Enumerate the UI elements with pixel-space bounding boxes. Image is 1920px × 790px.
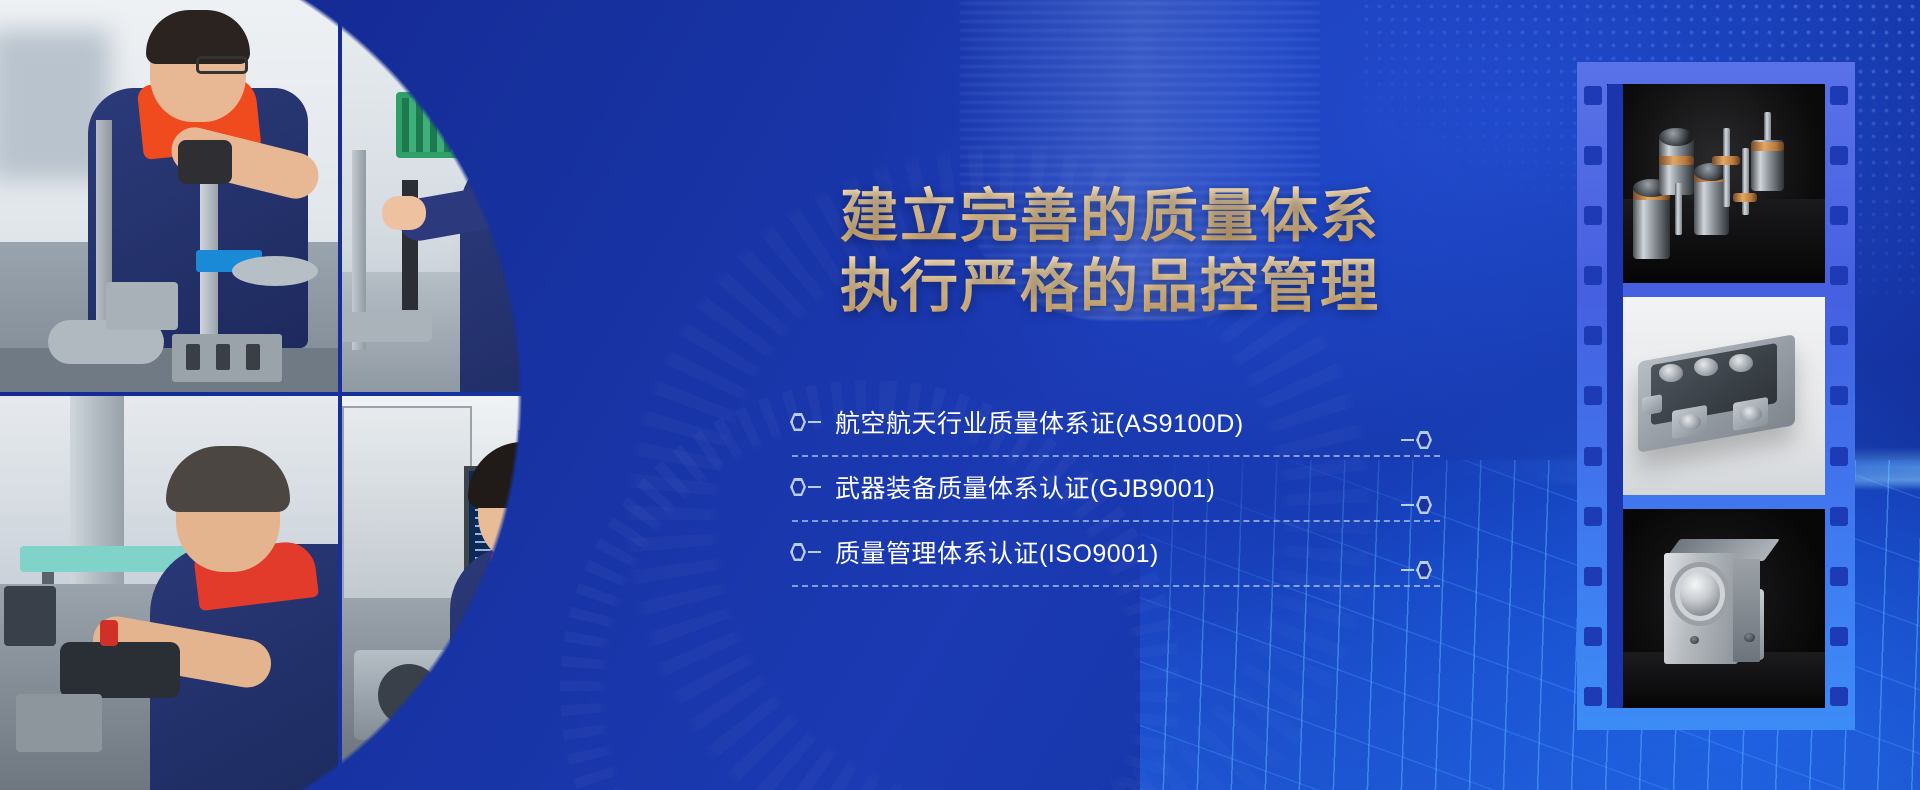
certification-label: 航空航天行业质量体系证(AS9100D) — [835, 404, 1244, 440]
bullet-dash-icon — [808, 486, 821, 488]
list-item: 航空航天行业质量体系证(AS9100D) — [790, 400, 1440, 465]
photo-cnc-machine-operator — [342, 396, 704, 790]
hexagon-bullet-icon — [790, 543, 806, 561]
hexagon-endcap-icon — [1416, 431, 1432, 449]
photo-precision-turned-shaft-components — [1607, 84, 1825, 283]
dashed-divider — [792, 455, 1440, 457]
page-title: 建立完善的质量体系 执行严格的品控管理 — [780, 182, 1440, 321]
list-item: 质量管理体系认证(ISO9001) — [790, 530, 1440, 595]
bullet-dash-icon — [808, 551, 821, 553]
photo-operator-bench-measurement — [342, 0, 704, 392]
quality-system-banner: 建立完善的质量体系 执行严格的品控管理 航空航天行业质量体系证(AS9100D)… — [0, 0, 1920, 790]
photo-cnc-bearing-block — [1607, 509, 1825, 708]
endcap-marker — [1401, 431, 1432, 449]
hexagon-bullet-icon — [790, 413, 806, 431]
film-perforations-right — [1830, 86, 1848, 706]
hexagon-endcap-icon — [1416, 561, 1432, 579]
dashed-divider — [792, 585, 1440, 587]
certification-list: 航空航天行业质量体系证(AS9100D) 武器装备质量体系认证(GJB9001) — [790, 400, 1440, 595]
left-photo-collage — [0, 0, 700, 790]
endcap-marker — [1401, 561, 1432, 579]
list-item: 武器装备质量体系认证(GJB9001) — [790, 465, 1440, 530]
photo-quality-inspector-height-gauge — [0, 0, 338, 392]
hexagon-bullet-icon — [790, 478, 806, 496]
bullet-dash-icon — [808, 421, 821, 423]
headline-line-2: 执行严格的品控管理 — [780, 252, 1440, 322]
dashed-divider — [792, 520, 1440, 522]
certification-label: 质量管理体系认证(ISO9001) — [835, 534, 1159, 570]
endcap-marker — [1401, 496, 1432, 514]
film-perforations-left — [1584, 86, 1602, 706]
endcap-dash-icon — [1401, 439, 1414, 441]
endcap-dash-icon — [1401, 504, 1414, 506]
photo-machined-aluminium-housing — [1607, 297, 1825, 496]
photo-cmm-coordinate-measuring-machine — [0, 396, 338, 790]
endcap-dash-icon — [1401, 569, 1414, 571]
product-filmstrip — [1577, 62, 1855, 730]
headline-line-1: 建立完善的质量体系 — [780, 182, 1440, 252]
hexagon-endcap-icon — [1416, 496, 1432, 514]
certification-label: 武器装备质量体系认证(GJB9001) — [835, 469, 1215, 505]
